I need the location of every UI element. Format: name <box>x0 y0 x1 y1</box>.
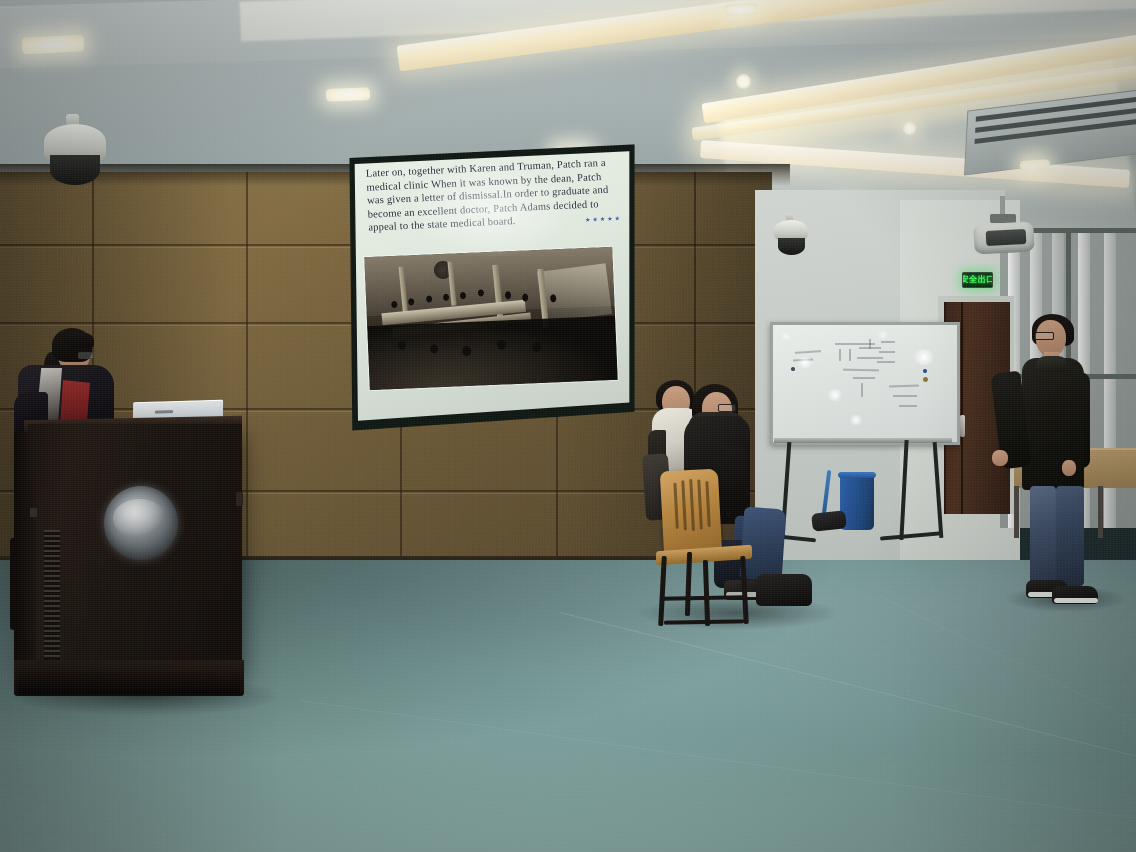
classroom-scene: 安全出口 Later on, together with Karen and T… <box>0 0 1136 852</box>
whiteboard-foot <box>880 531 940 540</box>
chair-backrest[interactable] <box>660 469 722 558</box>
magnet-dot <box>923 369 927 373</box>
slide-photo-courtroom <box>364 247 617 390</box>
whiteboard-pen-tray <box>774 438 952 443</box>
standing-man-leg-right <box>1056 486 1084 586</box>
glasses-icon <box>718 404 736 412</box>
ceiling-spotlight <box>1027 160 1039 172</box>
screen-surface: Later on, together with Karen and Truman… <box>353 148 631 424</box>
cleaning-mop-head <box>811 510 847 531</box>
standing-man-hand-right <box>1062 460 1076 476</box>
podium-left-face <box>14 432 36 664</box>
podium-emblem-icon <box>104 486 178 560</box>
exit-sign-label: 安全出口 <box>962 276 993 284</box>
magnet-dot <box>791 367 795 371</box>
projector-lens-icon <box>986 229 1027 246</box>
door-seam <box>961 302 963 514</box>
magnet-dot <box>923 377 928 382</box>
ceiling-spotlight <box>903 122 916 135</box>
standing-man-hand-left <box>992 450 1008 466</box>
ceiling-downlight <box>326 87 370 102</box>
podium-side-button[interactable] <box>30 508 37 517</box>
standing-man-leg-left <box>1030 486 1056 586</box>
ceiling-downlight <box>724 3 759 16</box>
student-front-boot <box>756 574 812 606</box>
standing-man-collar <box>1036 356 1068 372</box>
table-leg <box>1098 486 1103 538</box>
ceiling-downlight <box>22 34 85 54</box>
glasses-icon <box>78 352 94 359</box>
podium-speaker-grille-icon <box>44 530 60 660</box>
whiteboard-surface[interactable] <box>770 322 960 445</box>
ceiling-spotlight <box>736 74 751 89</box>
podium-mic-stem-icon <box>10 538 17 630</box>
projection-screen: Later on, together with Karen and Truman… <box>348 142 636 432</box>
shoe-sole <box>1054 598 1098 603</box>
whiteboard-leg <box>899 440 908 540</box>
presenter-fringe <box>66 332 94 348</box>
emergency-exit-sign: 安全出口 <box>962 272 993 288</box>
whiteboard-leg <box>933 442 944 538</box>
trash-bin-rim <box>838 472 876 478</box>
glasses-icon <box>1034 332 1054 340</box>
slide-body-text: Later on, together with Karen and Truman… <box>366 156 621 235</box>
door-handle-icon[interactable] <box>960 415 965 437</box>
laptop-logo <box>155 410 173 414</box>
podium-cable-hook <box>236 492 243 506</box>
podium-plinth <box>18 672 240 694</box>
table-leg <box>1014 486 1019 538</box>
